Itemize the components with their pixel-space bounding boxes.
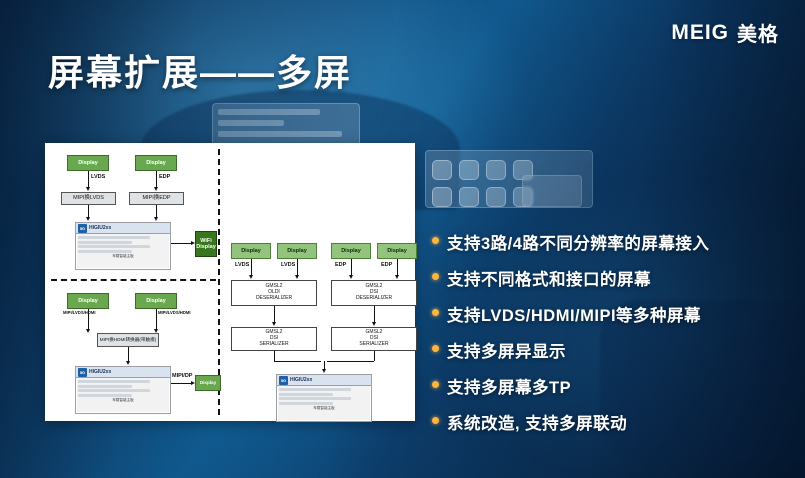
display-box: Display [277,243,317,259]
display-box: Display [377,243,417,259]
chip-header: 5G HIGIU2xx [76,223,170,234]
page-title: 屏幕扩展——多屏 [48,44,352,96]
bullet-dot-icon [432,345,439,352]
bullet-dot-icon [432,237,439,244]
chip-badge: 5G [78,224,87,233]
arrow-down-icon [395,275,399,279]
connector-line [397,259,398,275]
display-box: Display [67,293,109,309]
deserializer-box: GMSL2 OLDI DESERIALIZER [231,280,317,306]
link-label: EDP [335,262,346,268]
arrow-down-icon [372,322,376,326]
list-item: 支持多屏异显示 [432,338,709,362]
chip-detail-row [78,380,150,383]
arrow-down-icon [249,275,253,279]
arrow-down-icon [295,275,299,279]
main-board-chip: 5G HIGIU2xx 车载智能主板 [75,222,171,270]
connector-line [274,351,275,361]
connector-line [374,351,375,361]
list-item: 支持LVDS/HDMI/MIPI等多种屏幕 [432,302,709,326]
link-label: LVDS [281,262,295,268]
link-label: MIPI/LVDS/HDMI [158,311,182,316]
chip-detail-row [279,397,351,400]
main-board-chip: 5G HIGIU2xx 车载智能主板 [276,374,372,422]
connector-line [327,361,374,362]
chip-detail-row [279,393,333,396]
connector-line [156,205,157,217]
chip-detail-row [78,250,132,253]
bullet-text: 支持不同格式和接口的屏幕 [447,266,651,290]
connector-line [297,259,298,275]
bullet-dot-icon [432,309,439,316]
display-box: Display [135,293,177,309]
chip-caption: 车载智能主板 [78,254,168,259]
arrow-down-icon [86,187,90,191]
link-label: LVDS [235,262,249,268]
bullet-text: 支持多屏异显示 [447,338,566,362]
display-box: Display [195,375,221,391]
connector-line [274,361,321,362]
chip-detail-row [78,394,132,397]
chip-header: 5G HIGIU2xx [277,375,371,386]
link-label: MIPI/LVDS/HDMI [63,311,87,316]
arrow-down-icon [86,329,90,333]
chip-detail-row [78,389,150,392]
diagram-horizontal-divider [51,279,216,281]
list-item: 支持多屏幕多TP [432,374,709,398]
chip-name: HIGIU2xx [89,225,111,231]
link-label: EDP [381,262,392,268]
hdmi-converter-box: MIPI换HDMI转换器(带触摸) [97,333,159,347]
list-item: 支持3路/4路不同分辨率的屏幕接入 [432,230,709,254]
chip-detail-row [78,241,132,244]
connector-line [274,306,275,322]
bullet-text: 支持LVDS/HDMI/MIPI等多种屏幕 [447,302,701,326]
link-label: LVDS [91,174,105,180]
chip-name: HIGIU2xx [89,369,111,375]
connector-line [374,306,375,322]
display-box: Display [331,243,371,259]
bullet-dot-icon [432,273,439,280]
chip-caption: 车载智能主板 [279,406,369,411]
connector-line [171,243,191,244]
display-box: Display [231,243,271,259]
arrow-down-icon [154,217,158,221]
bridge-box: MIPI换LVDS [61,192,116,205]
bullet-text: 支持3路/4路不同分辨率的屏幕接入 [447,230,709,254]
brand-mark: MEIG [671,21,729,45]
bullet-text: 支持多屏幕多TP [447,374,571,398]
connector-line [156,171,157,187]
chip-badge: 5G [78,368,87,377]
chip-detail-row [78,236,150,239]
bridge-box: MIPI换EDP [129,192,184,205]
serializer-box: GMSL2 DSI SERIALIZER [231,327,317,351]
brand-name-cn: 美格 [737,18,779,47]
arrow-down-icon [322,369,326,373]
connector-line [128,347,129,361]
display-box: Display [67,155,109,171]
chip-detail-row [279,388,351,391]
list-item: 系统改造, 支持多屏联动 [432,410,709,434]
arrow-down-icon [126,361,130,365]
main-board-chip: 5G HIGIU2xx 车载智能主板 [75,366,171,414]
bullet-text: 系统改造, 支持多屏联动 [447,410,627,434]
chip-body: 车载智能主板 [76,378,170,405]
link-label: MIPI/DP [172,373,192,379]
arrow-down-icon [154,187,158,191]
list-item: 支持不同格式和接口的屏幕 [432,266,709,290]
arrow-down-icon [272,322,276,326]
display-box: Display [135,155,177,171]
chip-name: HIGIU2xx [290,377,312,383]
chip-detail-row [78,245,150,248]
deserializer-box: GMSL2 DSI DESERIALIZER [331,280,417,306]
chip-body: 车载智能主板 [76,234,170,261]
connector-line [171,383,191,384]
chip-caption: 车载智能主板 [78,398,168,403]
link-label: EDP [159,174,170,180]
arrow-down-icon [349,275,353,279]
connector-line [88,205,89,217]
bullet-dot-icon [432,417,439,424]
connector-line [351,259,352,275]
chip-body: 车载智能主板 [277,386,371,413]
connector-line [88,171,89,187]
chip-badge: 5G [279,376,288,385]
arrow-down-icon [86,217,90,221]
connector-line [156,309,157,329]
chip-detail-row [78,385,132,388]
chip-header: 5G HIGIU2xx [76,367,170,378]
connector-line [251,259,252,275]
bullet-dot-icon [432,381,439,388]
architecture-diagram-panel: Display Display LVDS EDP MIPI换LVDS MIPI换… [45,143,415,421]
serializer-box: GMSL2 DSI SERIALIZER [331,327,417,351]
connector-line [324,361,325,369]
chip-detail-row [279,402,333,405]
wifi-display-box: WiFi Display [195,231,217,257]
brand-logo: MEIG 美格 [671,18,779,47]
feature-bullet-list: 支持3路/4路不同分辨率的屏幕接入 支持不同格式和接口的屏幕 支持LVDS/HD… [432,230,709,434]
